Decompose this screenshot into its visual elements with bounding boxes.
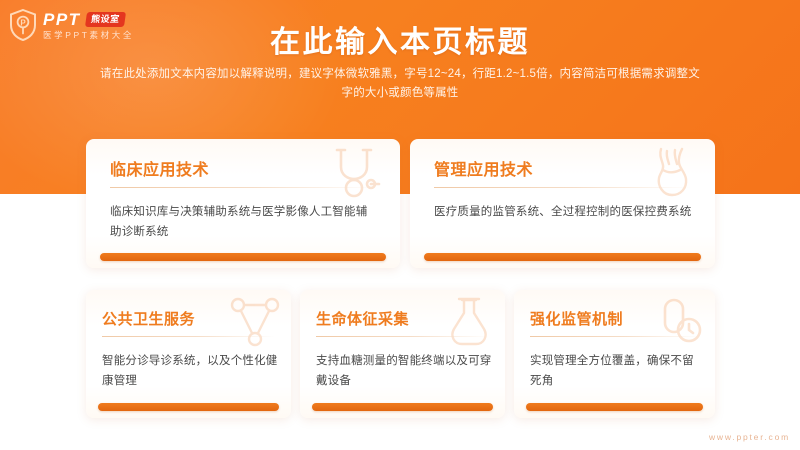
heart-anatomy-icon bbox=[639, 143, 701, 205]
card-body: 实现管理全方位覆盖，确保不留死角 bbox=[530, 351, 703, 391]
card-accent-bar bbox=[424, 253, 701, 261]
card-title: 生命体征采集 bbox=[316, 308, 409, 329]
card-title: 强化监管机制 bbox=[530, 308, 623, 329]
card-accent-bar bbox=[100, 253, 386, 261]
card-accent-bar bbox=[526, 403, 703, 411]
stethoscope-icon bbox=[324, 143, 386, 205]
card-body: 医疗质量的监管系统、全过程控制的医保控费系统 bbox=[434, 202, 693, 222]
site-watermark: www.ppter.com bbox=[709, 432, 790, 442]
flask-icon bbox=[439, 292, 499, 352]
card-public-health-service[interactable]: 公共卫生服务 智能分诊导诊系统，以及个性化健康管理 bbox=[86, 290, 291, 418]
card-title: 管理应用技术 bbox=[434, 156, 533, 180]
page-subtitle: 请在此处添加文本内容加以解释说明，建议字体微软雅黑，字号12~24，行距1.2~… bbox=[100, 65, 700, 103]
card-divider bbox=[434, 187, 691, 188]
card-divider bbox=[102, 336, 275, 337]
magnifier-clock-icon bbox=[649, 292, 709, 352]
card-vital-signs-collection[interactable]: 生命体征采集 支持血糖测量的智能终端以及可穿戴设备 bbox=[300, 290, 505, 418]
card-management-application[interactable]: 管理应用技术 医疗质量的监管系统、全过程控制的医保控费系统 bbox=[410, 139, 715, 268]
card-divider bbox=[316, 336, 489, 337]
card-body: 临床知识库与决策辅助系统与医学影像人工智能辅助诊断系统 bbox=[110, 202, 378, 242]
card-clinical-application[interactable]: 临床应用技术 临床知识库与决策辅助系统与医学影像人工智能辅助诊断系统 bbox=[86, 139, 400, 268]
card-body: 支持血糖测量的智能终端以及可穿戴设备 bbox=[316, 351, 493, 391]
card-divider bbox=[110, 187, 376, 188]
card-title: 公共卫生服务 bbox=[102, 308, 195, 329]
network-nodes-icon bbox=[225, 292, 285, 352]
card-strengthen-supervision[interactable]: 强化监管机制 实现管理全方位覆盖，确保不留死角 bbox=[514, 290, 715, 418]
card-accent-bar bbox=[312, 403, 493, 411]
card-title: 临床应用技术 bbox=[110, 156, 209, 180]
page-title: 在此输入本页标题 bbox=[0, 17, 800, 61]
slide-canvas: P PPT 熊设室 医学PPT素材大全 在此输入本页标题 请在此处添加文本内容加… bbox=[0, 0, 800, 450]
card-accent-bar bbox=[98, 403, 279, 411]
card-divider bbox=[530, 336, 699, 337]
card-body: 智能分诊导诊系统，以及个性化健康管理 bbox=[102, 351, 279, 391]
